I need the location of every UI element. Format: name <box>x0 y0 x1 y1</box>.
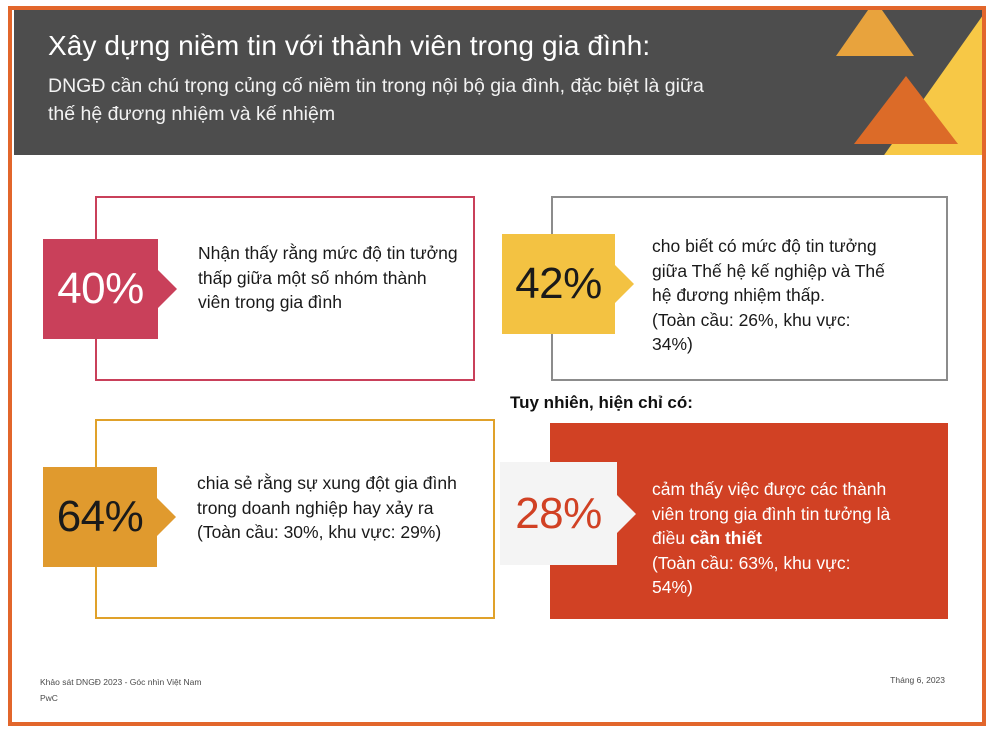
stat-description-text: (Toàn cầu: 63%, khu vực: <box>652 553 850 573</box>
stat-description-line: (Toàn cầu: 63%, khu vực: <box>652 551 890 576</box>
stat-card-64: 64% chia sẻ rằng sự xung đột gia đình tr… <box>95 419 495 619</box>
stat-badge-28: 28% <box>500 462 617 565</box>
page-title: Xây dựng niềm tin với thành viên trong g… <box>48 28 848 65</box>
stat-description-line: giữa Thế hệ kế nghiệp và Thế <box>652 259 885 284</box>
stat-badge-arrow-icon <box>615 265 634 303</box>
stat-value: 42% <box>515 262 602 306</box>
stat-value: 28% <box>515 492 602 536</box>
stat-description-line: 54%) <box>652 575 890 600</box>
stat-description-emphasis: cần thiết <box>690 528 762 548</box>
stat-description-line: cảm thấy việc được các thành <box>652 477 890 502</box>
stat-description-line: thấp giữa một số nhóm thành <box>198 266 458 291</box>
stat-value: 40% <box>57 267 144 311</box>
footer-left: Khảo sát DNGĐ 2023 - Góc nhìn Việt Nam P… <box>40 675 201 706</box>
page-subtitle: DNGĐ cần chú trọng củng cố niềm tin tron… <box>48 73 848 128</box>
stat-badge-arrow-icon <box>617 495 636 533</box>
stat-description-line: cho biết có mức độ tin tưởng <box>652 234 885 259</box>
stat-card-42: 42% cho biết có mức độ tin tưởng giữa Th… <box>551 196 948 381</box>
stat-description-line: trong doanh nghiệp hay xảy ra <box>197 496 457 521</box>
stat-description-line: điều cần thiết <box>652 526 890 551</box>
stat-description-text: cảm thấy việc được các thành <box>652 479 886 499</box>
stat-description-line: chia sẻ rằng sự xung đột gia đình <box>197 471 457 496</box>
header-banner: Xây dựng niềm tin với thành viên trong g… <box>14 10 982 155</box>
stat-badge-arrow-icon <box>157 498 176 536</box>
header-decoration <box>812 10 982 155</box>
stat-description: cảm thấy việc được các thànhviên trong g… <box>652 477 890 600</box>
however-label: Tuy nhiên, hiện chỉ có: <box>510 393 693 413</box>
stat-card-40: 40% Nhận thấy rằng mức độ tin tưởng thấp… <box>95 196 475 381</box>
stat-description-text: điều <box>652 528 690 548</box>
footer-source: Khảo sát DNGĐ 2023 - Góc nhìn Việt Nam <box>40 675 201 691</box>
stat-description-text: 54%) <box>652 577 693 597</box>
footer-date: Tháng 6, 2023 <box>890 675 945 685</box>
slide: Xây dựng niềm tin với thành viên trong g… <box>0 0 1000 735</box>
page-subtitle-line-1: DNGĐ cần chú trọng củng cố niềm tin tron… <box>48 73 848 101</box>
stat-description: chia sẻ rằng sự xung đột gia đình trong … <box>197 471 457 545</box>
stat-description: cho biết có mức độ tin tưởng giữa Thế hệ… <box>652 234 885 357</box>
stat-badge-arrow-icon <box>158 270 177 308</box>
stat-card-28: 28% cảm thấy việc được các thànhviên tro… <box>550 423 948 619</box>
stat-description: Nhận thấy rằng mức độ tin tưởng thấp giữ… <box>198 241 458 315</box>
stat-description-line: Nhận thấy rằng mức độ tin tưởng <box>198 241 458 266</box>
stat-description-line: 34%) <box>652 332 885 357</box>
stat-value: 64% <box>57 495 144 539</box>
stat-description-line: viên trong gia đình <box>198 290 458 315</box>
stat-description-line: (Toàn cầu: 30%, khu vực: 29%) <box>197 520 457 545</box>
stat-badge-64: 64% <box>43 467 157 567</box>
triangle-medium-icon <box>854 76 958 144</box>
stat-description-line: (Toàn cầu: 26%, khu vực: <box>652 308 885 333</box>
stat-badge-40: 40% <box>43 239 158 339</box>
header-text-group: Xây dựng niềm tin với thành viên trong g… <box>48 28 848 128</box>
page-subtitle-line-2: thế hệ đương nhiệm và kế nhiệm <box>48 101 848 129</box>
triangle-small-icon <box>836 10 914 56</box>
stat-badge-42: 42% <box>502 234 615 334</box>
stat-description-line: viên trong gia đình tin tưởng là <box>652 502 890 527</box>
stat-description-line: hệ đương nhiệm thấp. <box>652 283 885 308</box>
stat-description-text: viên trong gia đình tin tưởng là <box>652 504 890 524</box>
footer-brand: PwC <box>40 691 201 707</box>
